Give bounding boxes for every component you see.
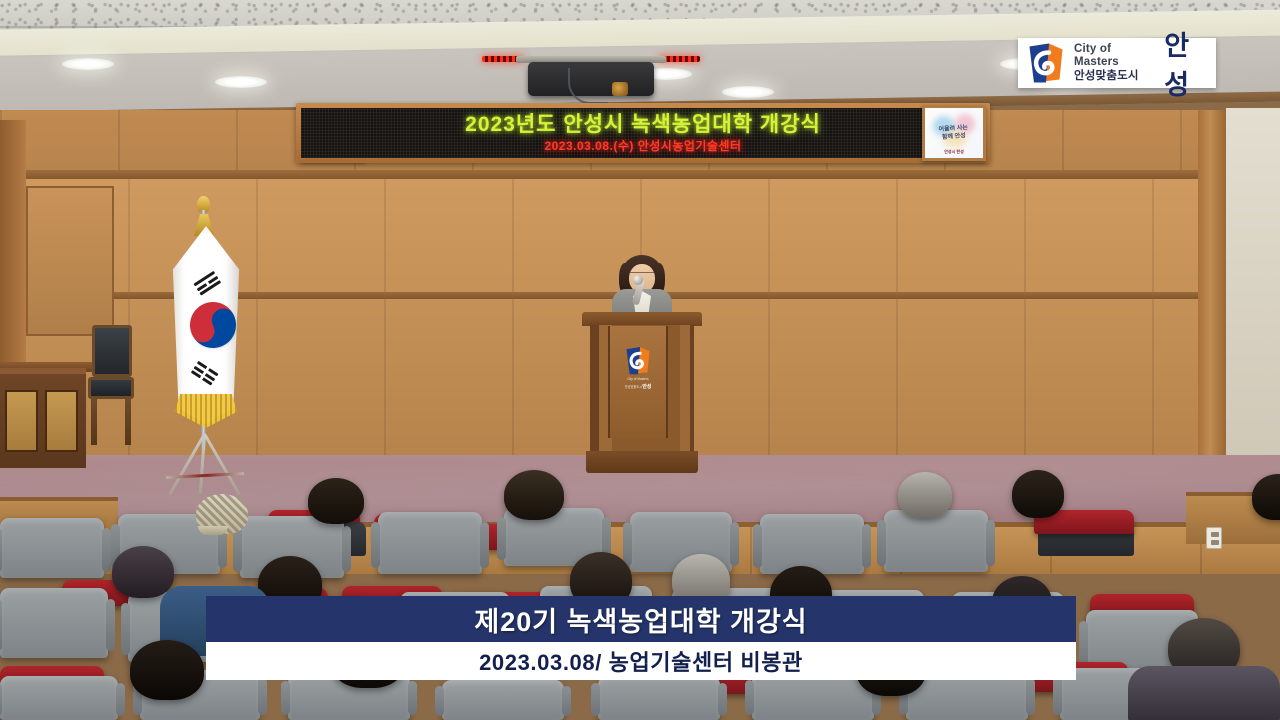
wall-panel-right (1226, 108, 1280, 461)
channel-logo-bug: City of Masters 안성맞춤도시 안성 (1018, 38, 1216, 88)
wall-pillar-right (1198, 110, 1228, 461)
chair-leg (91, 397, 97, 445)
stage-chair (88, 325, 134, 445)
trigram-geon (193, 271, 222, 298)
caption-title: 제20기 녹색농업대학 개강식 (206, 596, 1076, 642)
flag-fringe (172, 394, 240, 428)
podium-emblem-english: City of Masters (627, 377, 648, 381)
korean-flag (152, 196, 262, 464)
cabinet-panel (45, 390, 78, 452)
seat (0, 518, 104, 578)
logo-korean-name: 안성 (1164, 24, 1208, 102)
downlight (722, 86, 774, 98)
seat (884, 510, 988, 572)
led-banner-main-text: 2023년도 안성시 녹색농업대학 개강식 (465, 114, 821, 135)
podium-emblem-korean: 안성맞춤도시안성 (625, 384, 652, 391)
chair-seat (88, 377, 134, 399)
auditorium-photo: City of Masters 안성맞춤도시 안성 2023년도 안성시 녹색농… (0, 0, 1280, 720)
calligraphy-placard-right: 어울려 사는 함께 안성 안성시 한성 (922, 105, 986, 161)
side-cabinet (0, 368, 86, 468)
chair-backrest (92, 325, 132, 377)
taeguk-circle-icon (182, 294, 244, 356)
logo-english-text: City of Masters (1074, 43, 1152, 69)
speaker-person (604, 255, 680, 319)
seat (442, 680, 564, 720)
logo-korean-slogan: 안성맞춤도시 (1074, 70, 1152, 83)
audience-head (130, 640, 204, 700)
microphone-head (633, 275, 643, 285)
seat (378, 512, 482, 574)
anseong-emblem-icon (1026, 42, 1066, 84)
calligraphy-footer: 안성시 한성 (925, 149, 983, 155)
projector-cable (568, 68, 608, 104)
wall-door-left (26, 186, 114, 336)
audience-head (1252, 474, 1280, 520)
calligraphy-art: 어울려 사는 함께 안성 안성시 한성 (925, 108, 983, 158)
trigram-gon (189, 361, 218, 388)
podium: City of Masters 안성맞춤도시안성 (586, 312, 698, 478)
audience-head (504, 470, 564, 520)
audience-seating (0, 470, 1280, 720)
led-banner: 2023년도 안성시 녹색농업대학 개강식 2023.03.08.(수) 안성시… (296, 103, 990, 163)
caption-subtitle: 2023.03.08/ 농업기술센터 비봉관 (206, 642, 1076, 680)
calligraphy-text: 어울려 사는 함께 안성 (939, 124, 969, 141)
audience-shoulders (1128, 666, 1280, 720)
projector-lens (612, 82, 628, 96)
podium-anseong-emblem-icon: City of Masters 안성맞춤도시안성 (620, 346, 656, 390)
logo-text-block: City of Masters 안성맞춤도시 (1074, 43, 1152, 83)
audience-head (1012, 470, 1064, 518)
led-banner-screen: 2023년도 안성시 녹색농업대학 개강식 2023.03.08.(수) 안성시… (301, 108, 985, 158)
projector-body (528, 62, 654, 96)
podium-top (582, 312, 702, 326)
lower-third-caption: 제20기 녹색농업대학 개강식 2023.03.08/ 농업기술센터 비봉관 (206, 596, 1076, 680)
cabinet-panel (5, 390, 38, 452)
downlight (62, 58, 114, 70)
audience-head-hat (112, 546, 174, 598)
downlight (215, 76, 267, 88)
audience-head-gray (898, 472, 952, 518)
ceiling-projector (516, 52, 666, 104)
seat (598, 676, 720, 720)
chair-leg (125, 397, 131, 445)
audience-head (308, 478, 364, 524)
led-banner-sub-text: 2023.03.08.(수) 안성시농업기술센터 (544, 140, 741, 152)
seat (0, 588, 108, 658)
wall-rail (0, 170, 1280, 179)
seat (760, 514, 864, 574)
audience-cap-brim (198, 526, 228, 535)
seat (0, 676, 118, 720)
